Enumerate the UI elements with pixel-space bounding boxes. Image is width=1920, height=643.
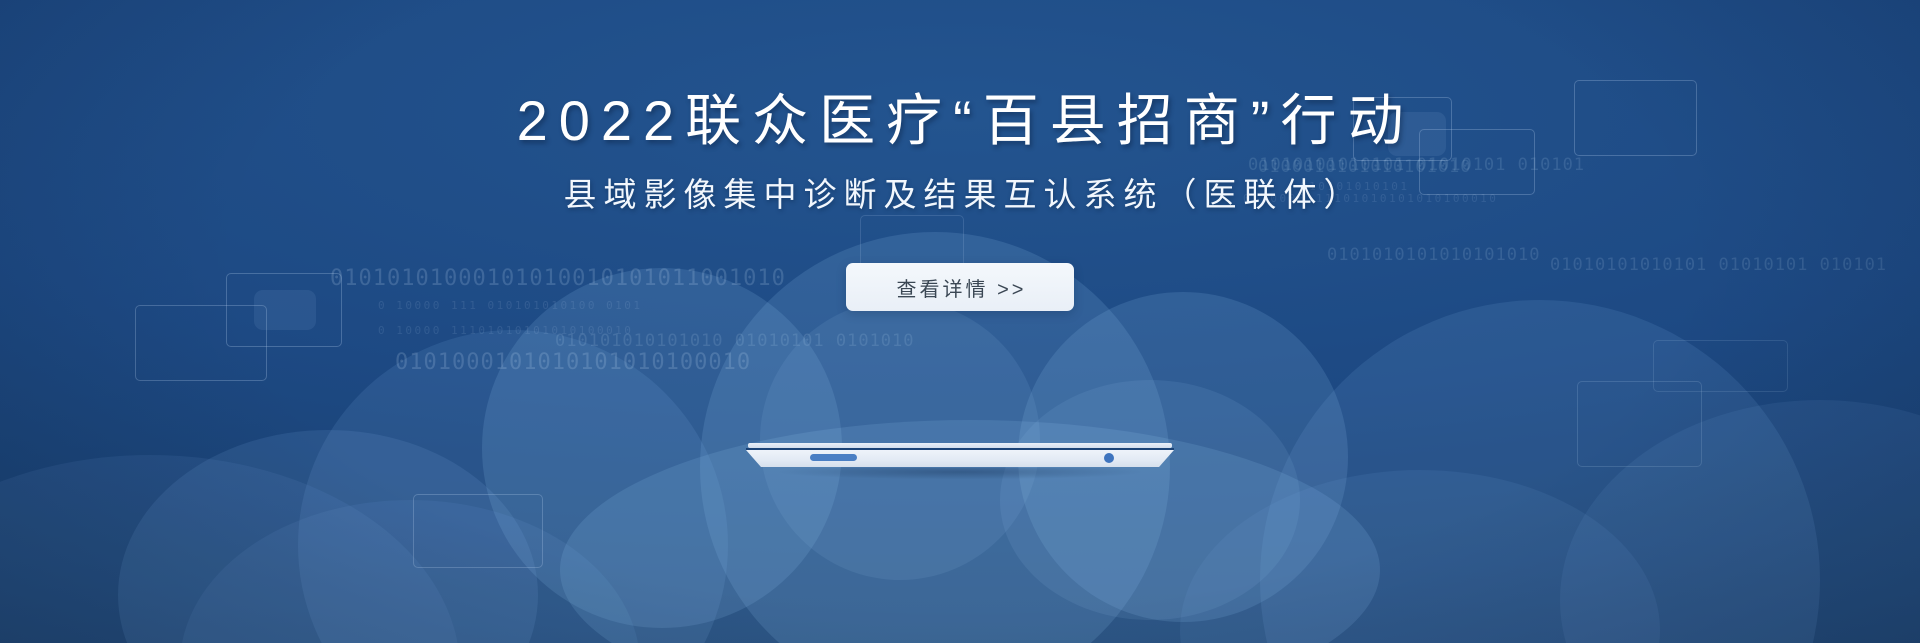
view-details-button[interactable]: 查看详情 >> xyxy=(846,263,1074,311)
promo-banner: 01010101000101010010101011001010 0 10000… xyxy=(0,0,1920,643)
page-title: 2022联众医疗“百县招商”行动 xyxy=(506,93,1415,149)
laptop-base xyxy=(746,443,1174,469)
laptop-hinge-gap xyxy=(746,448,1174,450)
laptop-indicator-dot xyxy=(1104,453,1114,463)
laptop-indicator-bar xyxy=(810,454,857,461)
banner-content: 2022联众医疗“百县招商”行动 县域影像集中诊断及结果互认系统（医联体） 查看… xyxy=(0,0,1920,643)
page-subtitle: 县域影像集中诊断及结果互认系统（医联体） xyxy=(557,178,1364,211)
